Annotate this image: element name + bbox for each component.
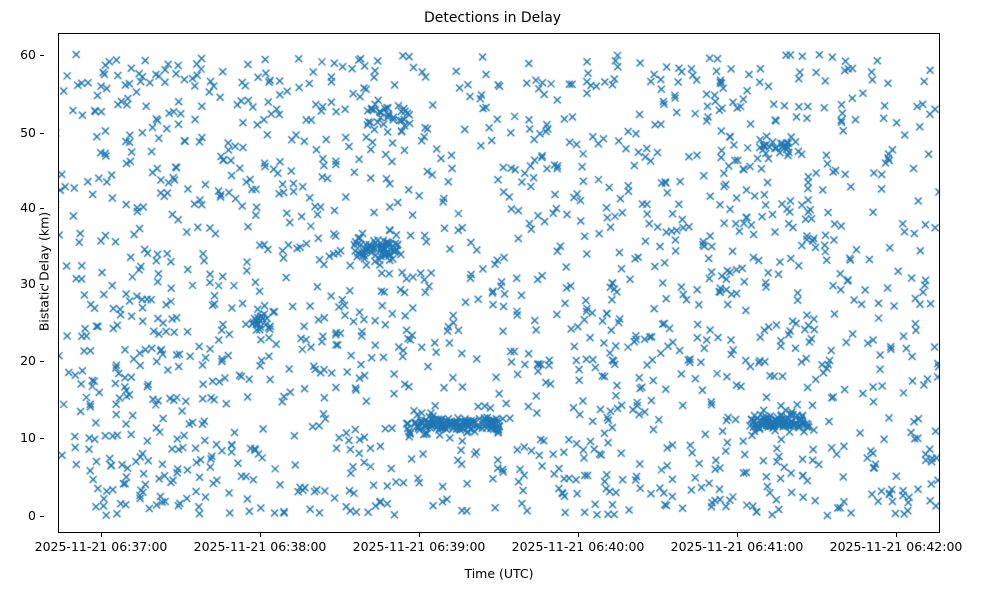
y-tick-label: 20 [20, 353, 36, 368]
y-tick-line [40, 361, 44, 362]
y-axis-label: Bistatic Delay (km) [37, 22, 52, 522]
x-tick-line [101, 533, 102, 537]
y-tick-line [40, 133, 44, 134]
x-tick-line [260, 533, 261, 537]
y-tick-line [40, 438, 44, 439]
y-tick-label: 30 [20, 276, 36, 291]
y-tick-line [40, 208, 44, 209]
y-tick-line [40, 516, 44, 517]
x-tick-label: 2025-11-21 06:42:00 [830, 539, 963, 554]
matplotlib-figure: Detections in Delay Bistatic Delay (km) … [0, 0, 985, 590]
y-tick-label: 10 [20, 430, 36, 445]
page-title: Detections in Delay [0, 10, 985, 26]
x-tick-label: 2025-11-21 06:39:00 [353, 539, 486, 554]
scatter-series-detections [59, 34, 940, 533]
y-tick-label: 40 [20, 200, 36, 215]
x-tick-label: 2025-11-21 06:37:00 [35, 539, 168, 554]
y-tick-label: 50 [20, 125, 36, 140]
x-tick-label: 2025-11-21 06:40:00 [512, 539, 645, 554]
y-tick-label: 60 [20, 47, 36, 62]
y-tick-label: 0 [28, 508, 36, 523]
x-tick-line [578, 533, 579, 537]
x-tick-line [419, 533, 420, 537]
x-tick-label: 2025-11-21 06:38:00 [194, 539, 327, 554]
plot-area [58, 33, 940, 533]
x-tick-line [737, 533, 738, 537]
y-tick-line [40, 55, 44, 56]
x-tick-label: 2025-11-21 06:41:00 [671, 539, 804, 554]
x-tick-line [896, 533, 897, 537]
y-tick-line [40, 284, 44, 285]
x-axis-label: Time (UTC) [58, 566, 940, 581]
